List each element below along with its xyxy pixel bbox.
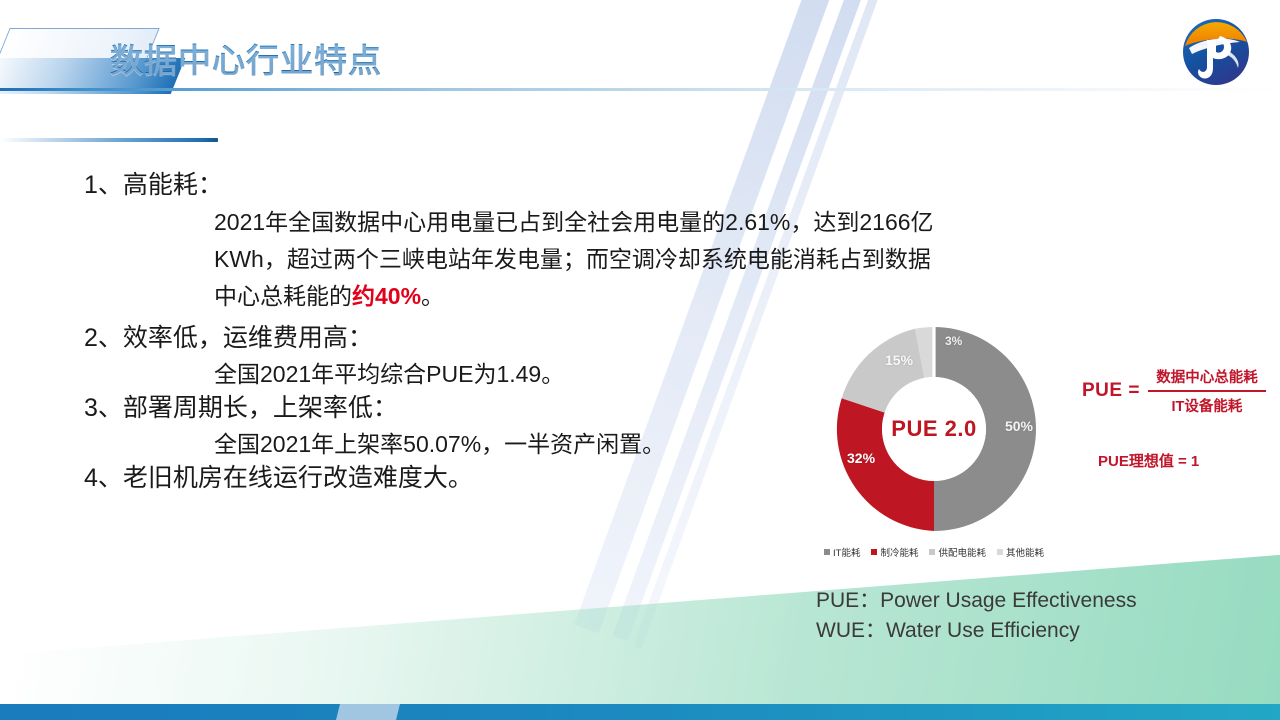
bullet-1-heading: 1、高能耗： bbox=[84, 168, 784, 204]
page-title: 数据中心行业特点 bbox=[110, 34, 382, 82]
donut-ring: PUE 2.0 50% 32% 15% 3% bbox=[827, 322, 1041, 536]
legend-item-it: IT能耗 bbox=[824, 545, 860, 559]
bullet-4-number: 4、 bbox=[84, 464, 123, 492]
pue-formula-row: PUE = 数据中心总能耗 IT设备能耗 bbox=[1082, 366, 1266, 416]
donut-value-cooling: 32% bbox=[847, 450, 875, 466]
chart-legend: IT能耗 制冷能耗 供配电能耗 其他能耗 bbox=[800, 545, 1068, 559]
bullet-1-title: 高能耗： bbox=[123, 171, 223, 199]
header-divider-line bbox=[0, 88, 1280, 91]
bullet-1-line-1: 2021年全国数据中心用电量已占到全社会用电量的2.61%，达到2166亿 bbox=[84, 204, 784, 241]
legend-label-other: 其他能耗 bbox=[1006, 545, 1044, 559]
globe-icon bbox=[1180, 16, 1252, 88]
bullet-3-number: 3、 bbox=[84, 394, 123, 422]
legend-swatch-other-icon bbox=[997, 549, 1003, 555]
slide-canvas: 数据中心行业特点 bbox=[0, 0, 1280, 720]
pue-ideal-value: PUE理想值 = 1 bbox=[1098, 450, 1266, 471]
legend-swatch-it-icon bbox=[824, 549, 830, 555]
pue-formula-denominator: IT设备能耗 bbox=[1168, 392, 1247, 416]
donut-center-text: PUE 2.0 bbox=[891, 416, 976, 442]
legend-swatch-power-icon bbox=[929, 549, 935, 555]
footnote-wue: WUE：Water Use Efficiency bbox=[816, 616, 1137, 646]
bullet-4-heading: 4、老旧机房在线运行改造难度大。 bbox=[84, 461, 784, 497]
acronym-footnotes: PUE：Power Usage Effectiveness WUE：Water … bbox=[816, 586, 1137, 647]
donut-value-it: 50% bbox=[1005, 418, 1033, 434]
bottom-accent-bar bbox=[0, 704, 1280, 720]
legend-label-cooling: 制冷能耗 bbox=[880, 545, 918, 559]
legend-item-other: 其他能耗 bbox=[997, 545, 1044, 559]
bullet-2-title: 效率低，运维费用高： bbox=[123, 324, 373, 352]
bullet-1-line-3-tail: 。 bbox=[421, 283, 444, 309]
bullet-1-line-2: KWh，超过两个三峡电站年发电量；而空调冷却系统电能消耗占到数据 bbox=[84, 241, 784, 278]
pue-formula: PUE = 数据中心总能耗 IT设备能耗 PUE理想值 = 1 bbox=[1082, 366, 1266, 471]
footnote-pue: PUE：Power Usage Effectiveness bbox=[816, 586, 1137, 616]
bullet-item-2: 2、效率低，运维费用高： 全国2021年平均综合PUE为1.49。 bbox=[84, 321, 784, 391]
bullet-2-heading: 2、效率低，运维费用高： bbox=[84, 321, 784, 357]
bullet-2-number: 2、 bbox=[84, 324, 123, 352]
legend-item-cooling: 制冷能耗 bbox=[871, 545, 918, 559]
company-globe-logo bbox=[1180, 16, 1252, 88]
legend-label-power: 供配电能耗 bbox=[938, 545, 986, 559]
bullet-3-line-1: 全国2021年上架率50.07%，一半资产闲置。 bbox=[84, 427, 784, 462]
title-accent-rule bbox=[0, 138, 218, 142]
bullet-1-highlight: 约40% bbox=[352, 283, 421, 309]
legend-swatch-cooling-icon bbox=[871, 549, 877, 555]
donut-value-power: 15% bbox=[885, 352, 913, 368]
bullet-1-line-3-text: 中心总耗能的 bbox=[214, 283, 352, 309]
bullet-list: 1、高能耗： 2021年全国数据中心用电量已占到全社会用电量的2.61%，达到2… bbox=[84, 168, 784, 497]
bullet-2-line-1: 全国2021年平均综合PUE为1.49。 bbox=[84, 357, 784, 392]
legend-label-it: IT能耗 bbox=[833, 545, 860, 559]
pue-formula-lhs: PUE = bbox=[1082, 380, 1140, 402]
pue-formula-fraction: 数据中心总能耗 IT设备能耗 bbox=[1148, 366, 1266, 416]
bullet-item-1: 1、高能耗： 2021年全国数据中心用电量已占到全社会用电量的2.61%，达到2… bbox=[84, 168, 784, 315]
bullet-item-3: 3、部署周期长，上架率低： 全国2021年上架率50.07%，一半资产闲置。 bbox=[84, 391, 784, 461]
bullet-4-title: 老旧机房在线运行改造难度大。 bbox=[123, 464, 473, 492]
donut-center-label: PUE 2.0 bbox=[882, 377, 986, 481]
bottom-bar-notch bbox=[336, 704, 400, 720]
bullet-item-4: 4、老旧机房在线运行改造难度大。 bbox=[84, 461, 784, 497]
bullet-1-number: 1、 bbox=[84, 171, 123, 199]
legend-item-power: 供配电能耗 bbox=[929, 545, 986, 559]
bullet-3-heading: 3、部署周期长，上架率低： bbox=[84, 391, 784, 427]
bullet-3-title: 部署周期长，上架率低： bbox=[123, 394, 398, 422]
donut-value-other: 3% bbox=[945, 334, 962, 348]
pue-formula-numerator: 数据中心总能耗 bbox=[1152, 366, 1262, 390]
pue-donut-chart: PUE 2.0 50% 32% 15% 3% IT能耗 制冷能耗 供配电能耗 其… bbox=[800, 322, 1068, 570]
bullet-1-line-3: 中心总耗能的约40%。 bbox=[84, 278, 784, 315]
